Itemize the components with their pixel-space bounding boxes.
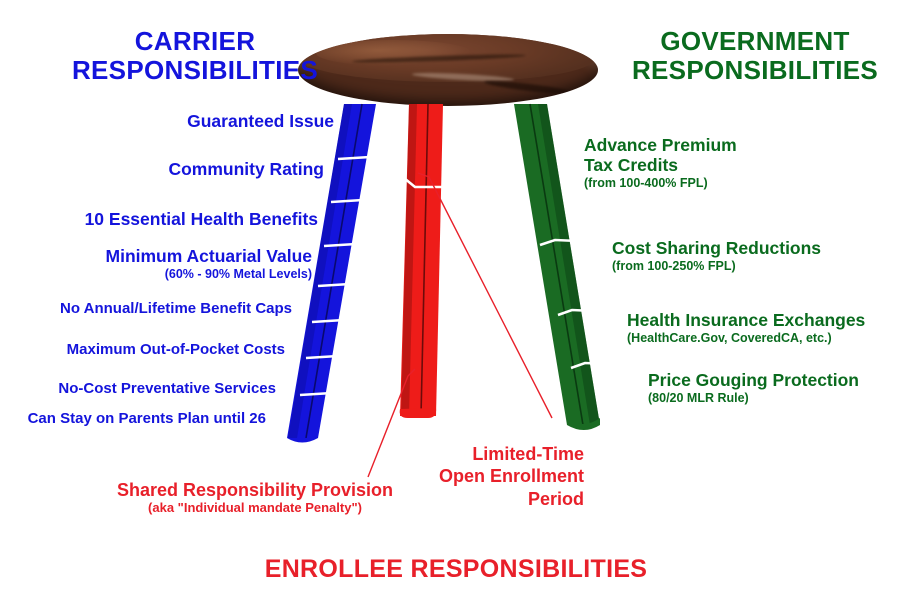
government-item-subtitle: (80/20 MLR Rule) <box>648 391 912 405</box>
carrier-item-no-cost-preventative: No-Cost Preventative Services <box>0 380 276 397</box>
carrier-item-title: Community Rating <box>168 159 324 179</box>
government-item-cost-sharing-reductions: Cost Sharing Reductions (from 100-250% F… <box>612 239 912 273</box>
government-leg-edge-line <box>530 104 583 425</box>
carrier-item-title: Can Stay on Parents Plan until 26 <box>28 410 266 427</box>
enrollee-leg-dividers <box>404 178 455 187</box>
government-item-title: Cost Sharing Reductions <box>612 238 821 258</box>
carrier-item-community-rating: Community Rating <box>14 160 324 180</box>
government-leg-dividers <box>540 240 606 368</box>
government-item-title: Price Gouging Protection <box>648 370 859 390</box>
carrier-item-parents-plan-26: Can Stay on Parents Plan until 26 <box>0 410 266 427</box>
carrier-item-essential-health-benefits: 10 Essential Health Benefits <box>4 210 318 230</box>
government-item-advance-premium-tax-credits: Advance Premium Tax Credits (from 100-40… <box>584 116 884 210</box>
enrollee-item-subtitle: (aka "Individual mandate Penalty") <box>90 501 420 516</box>
enrollee-responsibilities-heading: ENROLLEE RESPONSIBILITIES <box>246 555 666 583</box>
carrier-item-title: No-Cost Preventative Services <box>58 380 276 397</box>
government-item-subtitle: (from 100-250% FPL) <box>612 259 912 273</box>
government-item-subtitle: (from 100-400% FPL) <box>584 176 884 190</box>
carrier-item-max-out-of-pocket: Maximum Out-of-Pocket Costs <box>0 341 285 358</box>
carrier-item-subtitle: (60% - 90% Metal Levels) <box>0 267 312 281</box>
government-item-title: Advance Premium Tax Credits <box>584 135 737 175</box>
infographic-canvas: CARRIER RESPONSIBILITIES GOVERNMENT RESP… <box>0 0 912 600</box>
enrollee-leg <box>400 104 455 418</box>
stool-seat <box>298 34 598 106</box>
government-item-health-insurance-exchanges: Health Insurance Exchanges (HealthCare.G… <box>627 311 912 345</box>
carrier-responsibilities-heading: CARRIER RESPONSIBILITIES <box>60 27 330 85</box>
enrollee-leg-shadow-face <box>401 104 417 416</box>
open-enrollment-pointer-line <box>418 173 552 418</box>
enrollee-item-title: Limited-Time Open Enrollment Period <box>439 444 584 509</box>
government-responsibilities-heading: GOVERNMENT RESPONSIBILITIES <box>610 27 900 85</box>
carrier-item-title: 10 Essential Health Benefits <box>85 209 318 229</box>
enrollee-leg-body <box>400 104 443 416</box>
carrier-item-minimum-actuarial-value: Minimum Actuarial Value (60% - 90% Metal… <box>0 247 312 281</box>
enrollee-leg-foot <box>400 408 436 418</box>
government-item-subtitle: (HealthCare.Gov, CoveredCA, etc.) <box>627 331 912 345</box>
enrollee-leg-edge-line <box>421 104 428 416</box>
government-item-price-gouging-protection: Price Gouging Protection (80/20 MLR Rule… <box>648 371 912 405</box>
carrier-item-guaranteed-issue: Guaranteed Issue <box>24 112 334 132</box>
carrier-item-no-annual-lifetime-caps: No Annual/Lifetime Benefit Caps <box>0 300 292 317</box>
enrollee-item-shared-responsibility-provision: Shared Responsibility Provision (aka "In… <box>90 480 420 515</box>
carrier-item-title: Maximum Out-of-Pocket Costs <box>67 341 285 358</box>
carrier-item-title: No Annual/Lifetime Benefit Caps <box>60 300 292 317</box>
carrier-item-title: Minimum Actuarial Value <box>106 246 313 266</box>
enrollee-item-title: Shared Responsibility Provision <box>117 480 393 500</box>
government-item-title: Health Insurance Exchanges <box>627 310 865 330</box>
carrier-leg-edge-line <box>306 104 362 438</box>
enrollee-item-open-enrollment-period: Limited-Time Open Enrollment Period <box>400 420 584 511</box>
carrier-item-title: Guaranteed Issue <box>187 111 334 131</box>
seat-grain-line-3 <box>484 79 574 97</box>
carrier-leg-foot <box>287 438 318 443</box>
